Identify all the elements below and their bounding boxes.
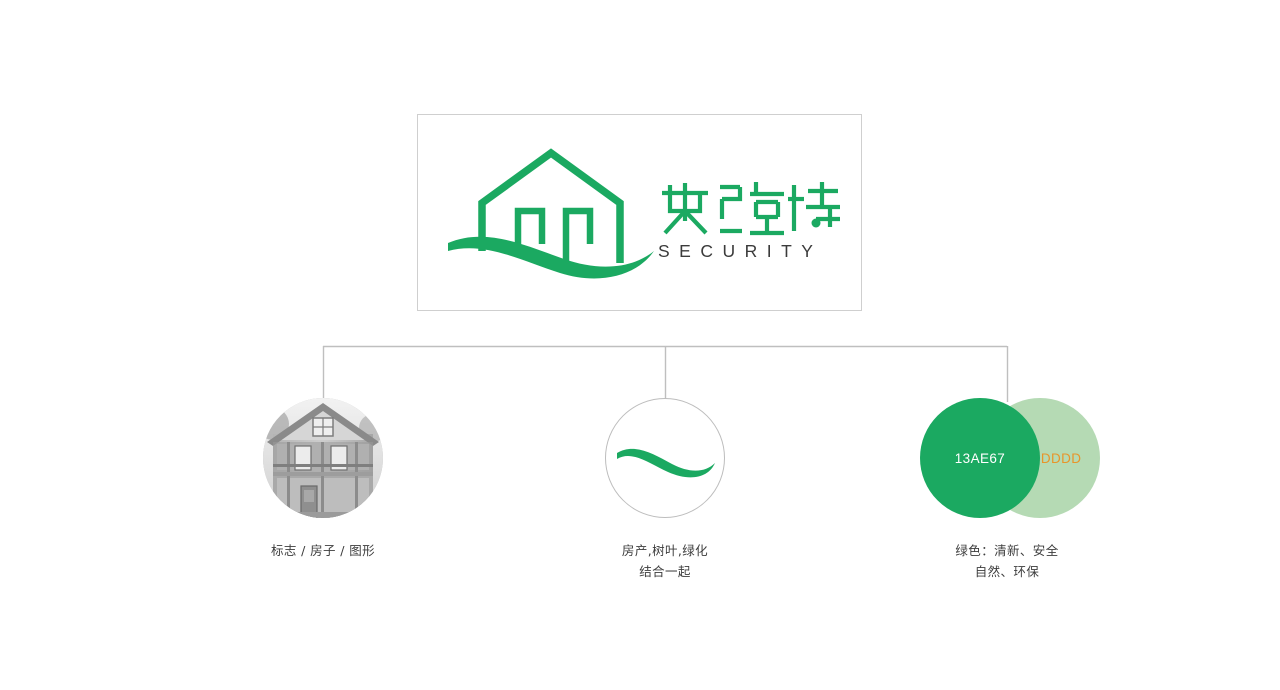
leaf-swoosh-circle — [605, 398, 725, 518]
logo-inner: SECURITY — [418, 115, 861, 310]
connector-lines — [0, 0, 1280, 690]
color-swatch-primary: 13AE67 — [920, 398, 1040, 518]
logo-wordmark: SECURITY — [656, 177, 851, 275]
brand-name-cn-icon — [656, 177, 842, 239]
node-caption: 房产,树叶,绿化 结合一起 — [545, 540, 785, 582]
node-caption: 标志 / 房子 / 图形 — [203, 540, 443, 561]
node-caption: 绿色：清新、安全 自然、环保 — [887, 540, 1127, 582]
concept-node-leaf: 房产,树叶,绿化 结合一起 — [545, 398, 785, 582]
concept-board: SECURITY — [0, 0, 1280, 690]
house-photo-circle — [263, 398, 383, 518]
logo-frame: SECURITY — [417, 114, 862, 311]
circle-slot — [203, 398, 443, 520]
color-swatch-primary-label: 13AE67 — [955, 451, 1005, 466]
circle-slot — [545, 398, 785, 520]
color-swatch-circles: DCDDDD 13AE67 — [920, 398, 1100, 518]
concept-node-color: DCDDDD 13AE67 绿色：清新、安全 自然、环保 — [887, 398, 1127, 582]
brand-name-en: SECURITY — [656, 241, 851, 261]
house-leaf-logo-icon — [446, 141, 656, 286]
concept-node-house: 标志 / 房子 / 图形 — [203, 398, 443, 561]
circle-slot: DCDDDD 13AE67 — [887, 398, 1127, 520]
